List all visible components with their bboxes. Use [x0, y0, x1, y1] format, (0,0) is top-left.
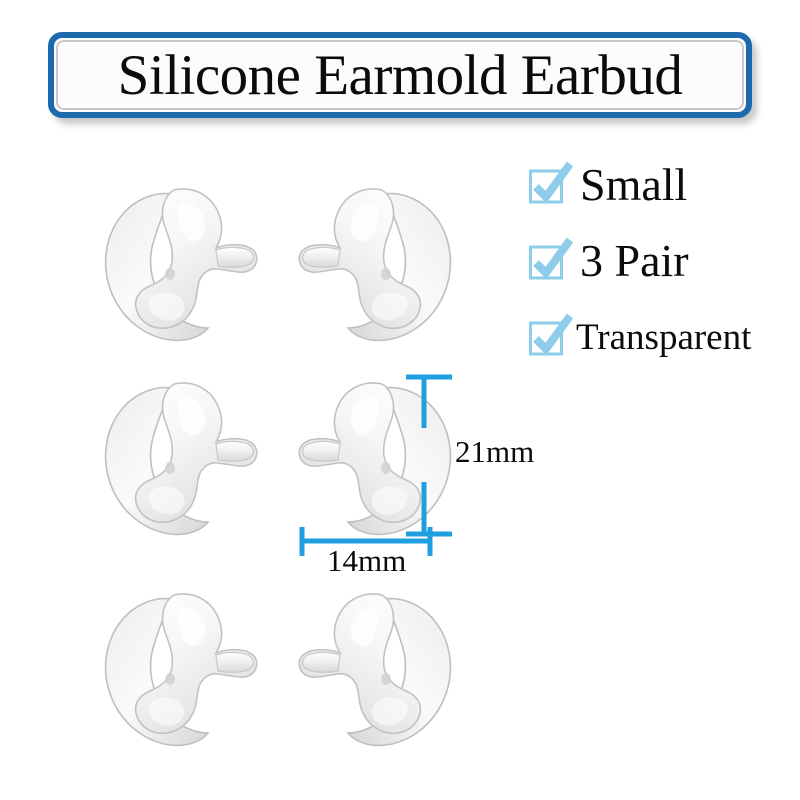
earmold-left-row1	[88, 178, 278, 353]
feature-item-color: Transparent	[528, 310, 800, 364]
title-banner: Silicone Earmold Earbud	[48, 32, 752, 118]
earmold-left-row2	[88, 372, 278, 547]
feature-item-small: Small	[528, 158, 800, 212]
feature-label-small: Small	[580, 162, 687, 208]
feature-label-color: Transparent	[576, 319, 751, 356]
checkbox-checked-icon	[528, 316, 570, 358]
feature-item-quantity: 3 Pair	[528, 234, 800, 288]
width-dimension-label: 14mm	[327, 545, 406, 576]
height-dimension-label: 21mm	[455, 436, 534, 467]
earmold-left-row3	[88, 583, 278, 758]
earmold-right-row2	[278, 372, 468, 547]
feature-list: Small 3 Pair Transparent	[528, 158, 800, 364]
earmold-right-row3	[278, 583, 468, 758]
width-dimension-line	[302, 527, 430, 556]
feature-label-quantity: 3 Pair	[580, 238, 689, 284]
checkbox-checked-icon	[528, 164, 570, 206]
earmold-grid	[0, 0, 800, 800]
dimension-annotations: 21mm 14mm	[0, 0, 800, 800]
page-title: Silicone Earmold Earbud	[118, 47, 683, 104]
earmold-right-row1	[278, 178, 468, 353]
checkbox-checked-icon	[528, 240, 570, 282]
height-dimension-line	[406, 377, 452, 534]
